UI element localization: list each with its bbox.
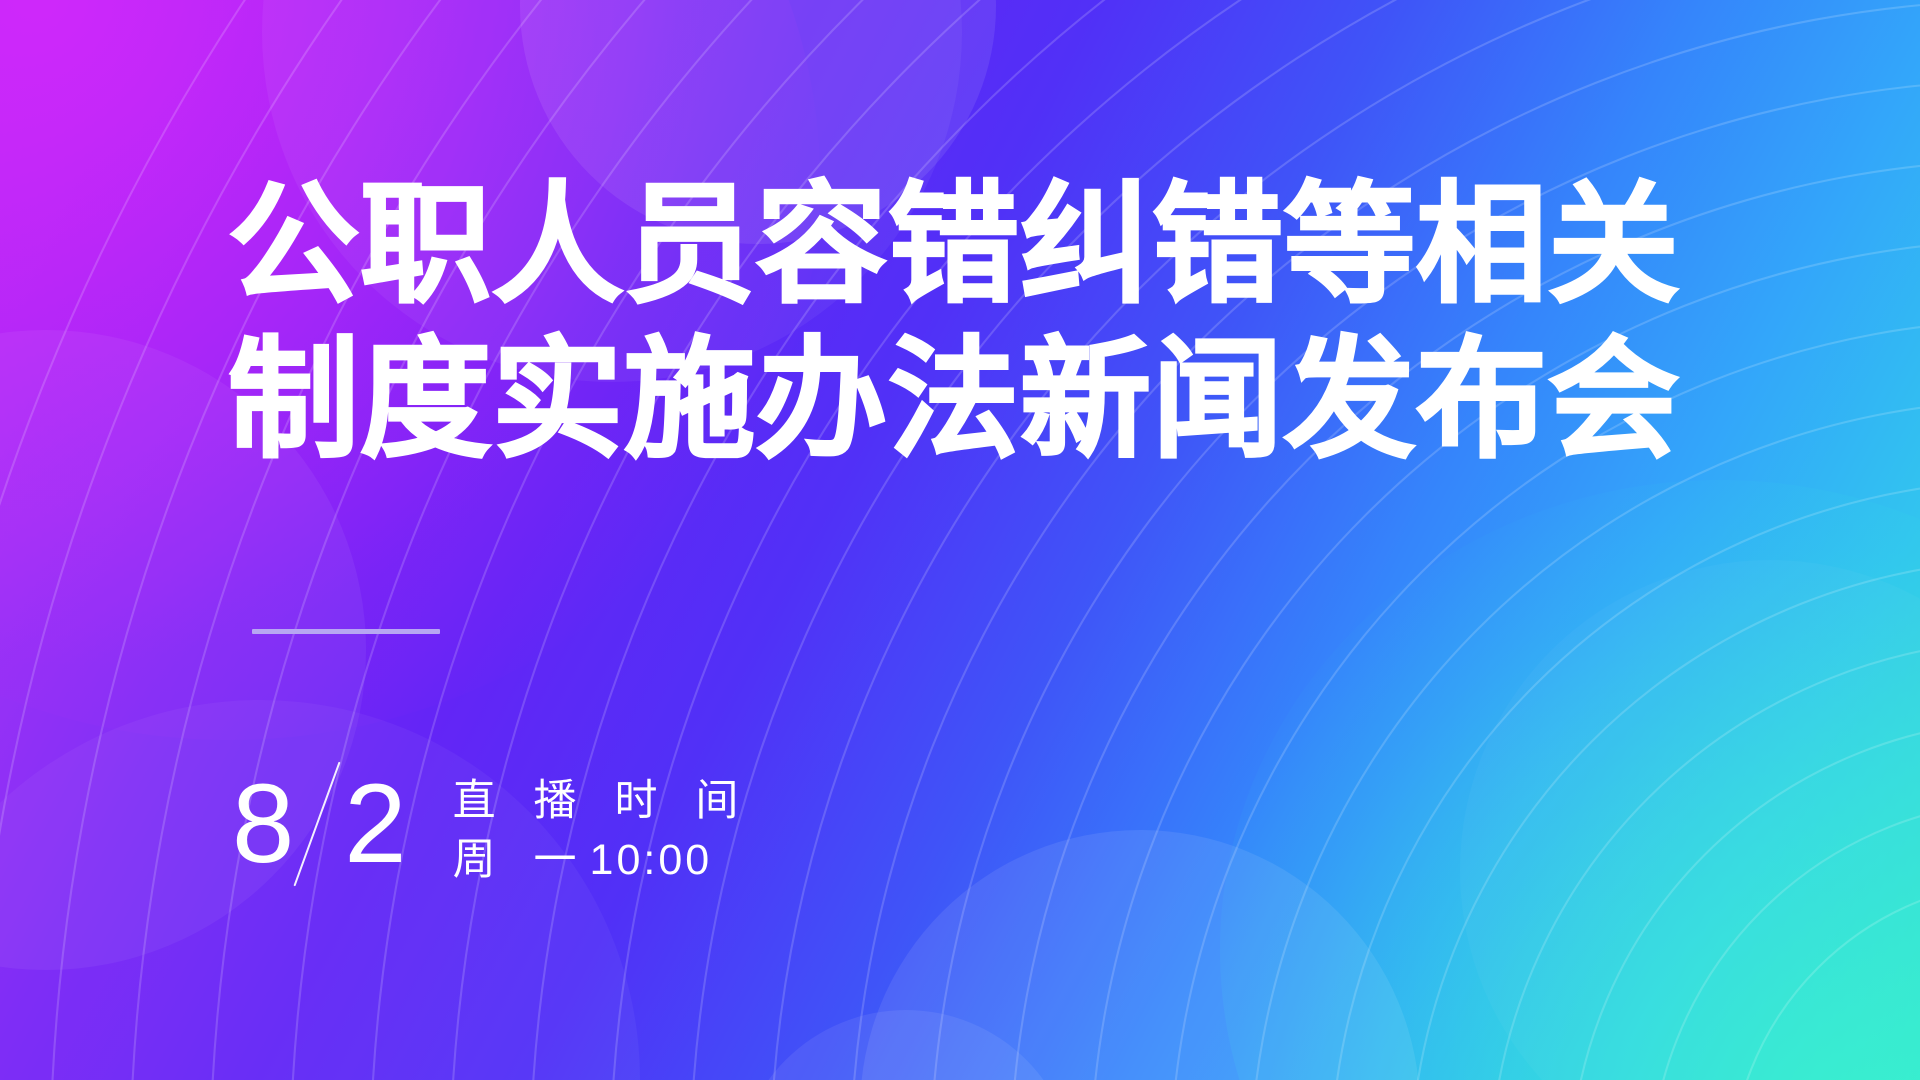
poster-canvas: 公职人员容错纠错等相关 制度实施办法新闻发布会 8 2 直 播 时 间 周 一1… xyxy=(0,0,1920,1080)
poster-content: 公职人员容错纠错等相关 制度实施办法新闻发布会 8 2 直 播 时 间 周 一1… xyxy=(0,0,1920,1080)
schedule-label: 直 播 时 间 xyxy=(453,772,752,831)
divider xyxy=(252,629,440,634)
date-slash-icon xyxy=(294,762,341,887)
schedule-block: 直 播 时 间 周 一10:00 xyxy=(453,758,752,891)
broadcast-info: 8 2 直 播 时 间 周 一10:00 xyxy=(232,758,751,891)
schedule-value: 周 一10:00 xyxy=(453,831,752,890)
schedule-time: 10:00 xyxy=(590,836,713,884)
date-day: 2 xyxy=(344,768,406,880)
title-line-2: 制度实施办法新闻发布会 xyxy=(228,323,1748,478)
title-line-1: 公职人员容错纠错等相关 xyxy=(228,168,1748,323)
date-month: 8 xyxy=(232,768,294,880)
schedule-weekday: 周 一 xyxy=(453,836,590,884)
date-display: 8 2 xyxy=(232,758,407,890)
page-title: 公职人员容错纠错等相关 制度实施办法新闻发布会 xyxy=(228,168,1748,477)
